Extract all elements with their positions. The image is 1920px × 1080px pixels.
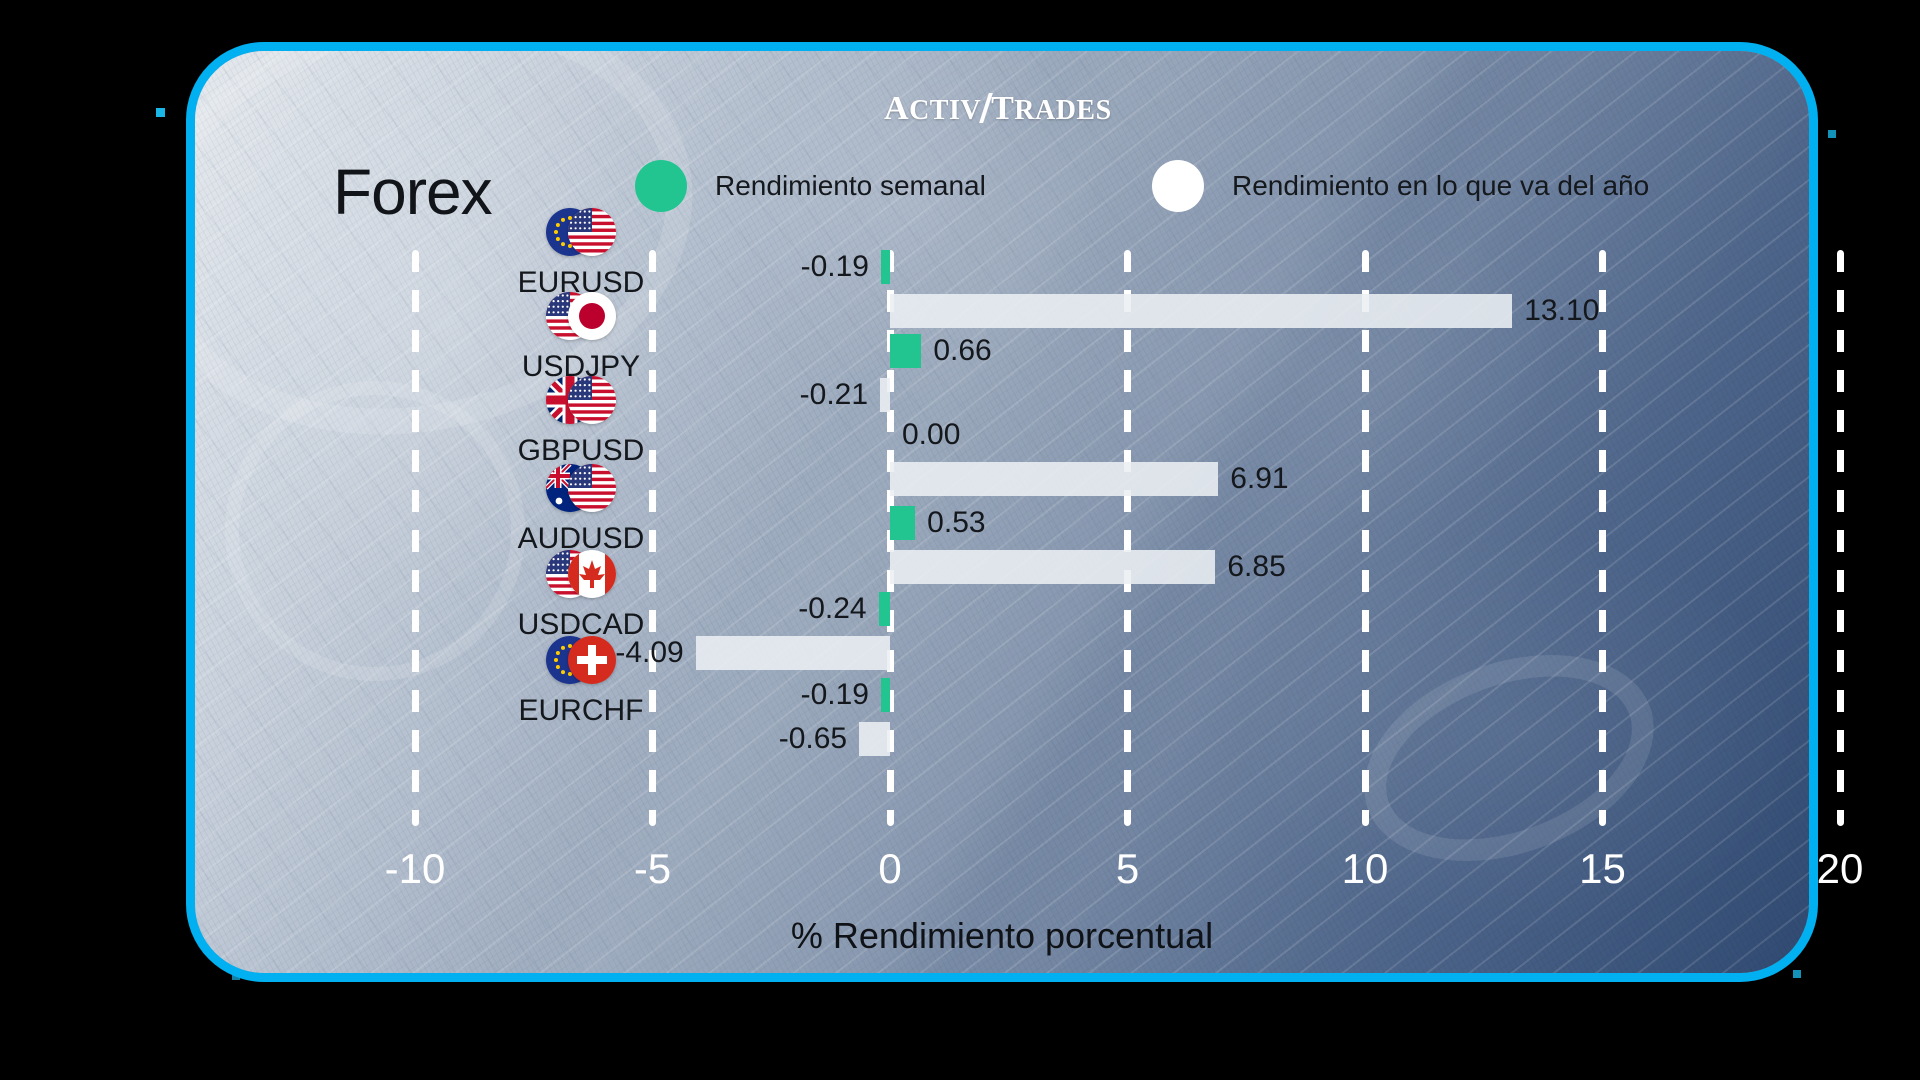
- bar-value-eurchf-weekly: -0.19: [801, 678, 869, 712]
- flag-us-icon: [568, 208, 616, 256]
- bar-eurchf-rendimiento: [881, 678, 890, 712]
- page-title: Forex: [333, 155, 492, 229]
- chart-row-usdcad: USDCAD-0.24-4.09: [186, 574, 1818, 662]
- legend-label-ytd: Rendimiento en lo que va del año: [1232, 170, 1649, 202]
- flag-ch-icon: [568, 636, 616, 684]
- flag-pair-usdjpy: [516, 292, 646, 340]
- bar-value-gbpusd-weekly: 0.00: [902, 418, 960, 452]
- flag-us-icon: [568, 464, 616, 512]
- bar-value-eurusd-weekly: -0.19: [801, 250, 869, 284]
- flag-pair-gbpusd: [516, 376, 646, 424]
- bar-eurusd-rendimiento: [881, 250, 890, 284]
- activtrades-logo: ACTIVTRADES: [884, 90, 1112, 128]
- x-tick-label-10: 10: [1342, 845, 1389, 893]
- bar-eurchf-rendimiento: [859, 722, 890, 756]
- legend-dot-ytd-icon: [1152, 160, 1204, 212]
- x-tick-label-0: 0: [878, 845, 901, 893]
- x-tick-label--5: -5: [634, 845, 671, 893]
- chart-row-usdjpy: USDJPY0.66-0.21: [186, 316, 1818, 404]
- x-tick-label-5: 5: [1116, 845, 1139, 893]
- x-tick-label-20: 20: [1817, 845, 1864, 893]
- bar-audusd-rendimiento: [890, 506, 915, 540]
- chart-row-eurchf: EURCHF-0.19-0.65: [186, 660, 1818, 748]
- pair-label-eurchf: EURCHF: [446, 694, 716, 728]
- bar-value-usdcad-weekly: -0.24: [798, 592, 866, 626]
- flag-ca-icon: [568, 550, 616, 598]
- bar-usdjpy-rendimiento: [890, 334, 921, 368]
- x-tick-label-15: 15: [1579, 845, 1626, 893]
- flag-us-icon: [568, 376, 616, 424]
- screenshot-root: ACTIVTRADES Forex Rendimiento semanal Re…: [0, 0, 1920, 1080]
- bar-value-usdjpy-weekly: 0.66: [933, 334, 991, 368]
- x-axis-label: % Rendimiento porcentual: [186, 915, 1818, 957]
- chart-row-gbpusd: GBPUSD0.006.91: [186, 400, 1818, 488]
- legend-item-ytd: Rendimiento en lo que va del año: [1152, 160, 1649, 212]
- logo-text-ctiv: CTIV: [909, 95, 981, 126]
- bar-value-eurchf-ytd: -0.65: [779, 722, 847, 756]
- logo-letter-a: A: [884, 90, 909, 127]
- x-axis-ticks: -10-505101520: [186, 845, 1818, 905]
- gridline-20: [1837, 250, 1844, 826]
- chart-row-eurusd: EURUSD-0.1913.10: [186, 232, 1818, 320]
- legend-dot-weekly-icon: [635, 160, 687, 212]
- bar-chart: EURUSD-0.1913.10USDJPY0.66-0.21GBPUSD0.0…: [186, 240, 1818, 840]
- pair-label-gbpusd: GBPUSD: [446, 434, 716, 468]
- legend-item-weekly: Rendimiento semanal: [635, 160, 986, 212]
- logo-text-rades: RADES: [1014, 95, 1111, 126]
- bar-value-audusd-weekly: 0.53: [927, 506, 985, 540]
- edge-artifact: [1828, 130, 1836, 138]
- flag-jp-icon: [568, 292, 616, 340]
- edge-artifact: [156, 108, 165, 117]
- legend-label-weekly: Rendimiento semanal: [715, 170, 986, 202]
- logo-letter-t: T: [991, 90, 1014, 127]
- flag-pair-usdcad: [516, 550, 646, 598]
- chart-row-audusd: AUDUSD0.536.85: [186, 488, 1818, 576]
- flag-pair-eurchf: [516, 636, 646, 684]
- bar-usdcad-rendimiento: [879, 592, 890, 626]
- flag-pair-audusd: [516, 464, 646, 512]
- flag-pair-eurusd: [516, 208, 646, 256]
- x-tick-label--10: -10: [385, 845, 446, 893]
